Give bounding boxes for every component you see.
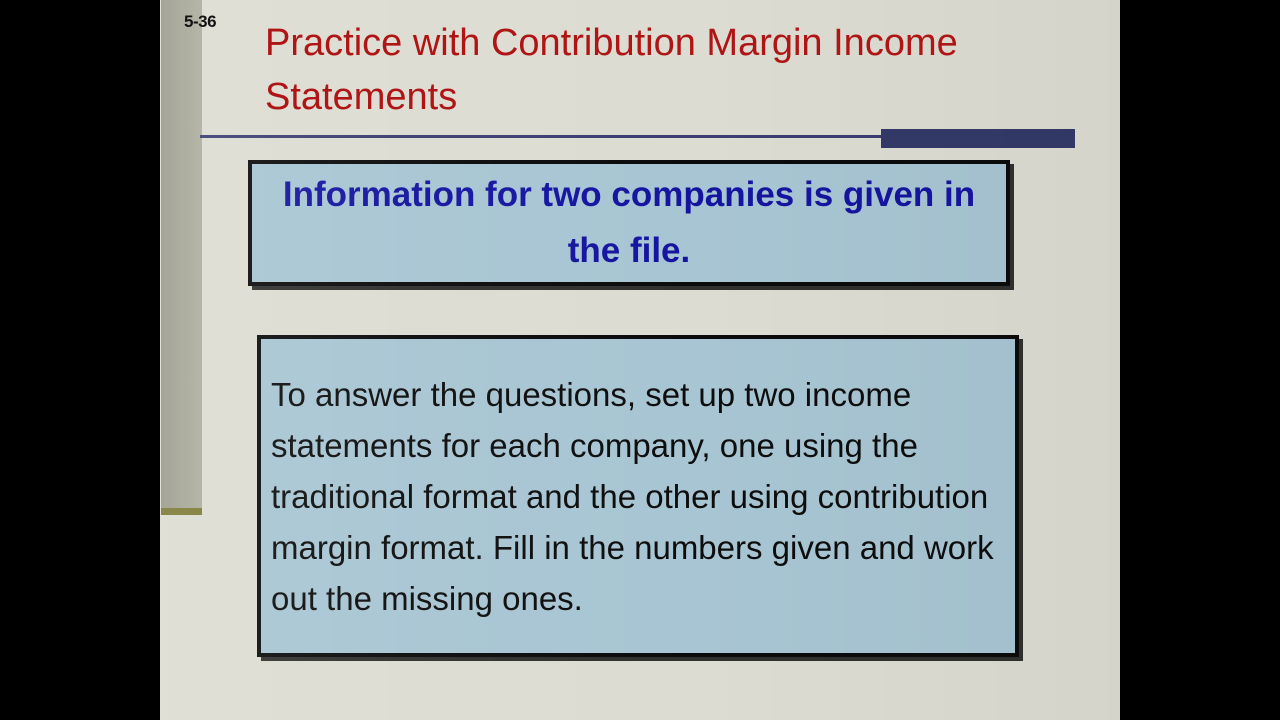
title-accent-block [881,129,1075,148]
instructions-callout-box: To answer the questions, set up two inco… [257,335,1019,657]
instructions-callout-text: To answer the questions, set up two inco… [261,369,1015,624]
slide-decorative-sidebar [161,0,202,512]
presentation-stage: 5-36 Practice with Contribution Margin I… [0,0,1280,720]
slide-decorative-sidebar-footer [161,508,202,515]
headline-callout-text: Information for two companies is given i… [252,167,1006,279]
slide-number: 5-36 [184,12,216,32]
headline-callout-box: Information for two companies is given i… [248,160,1010,286]
page-title: Practice with Contribution Margin Income… [265,16,1025,124]
slide-canvas: 5-36 Practice with Contribution Margin I… [160,0,1120,720]
title-divider-rule [200,135,884,138]
